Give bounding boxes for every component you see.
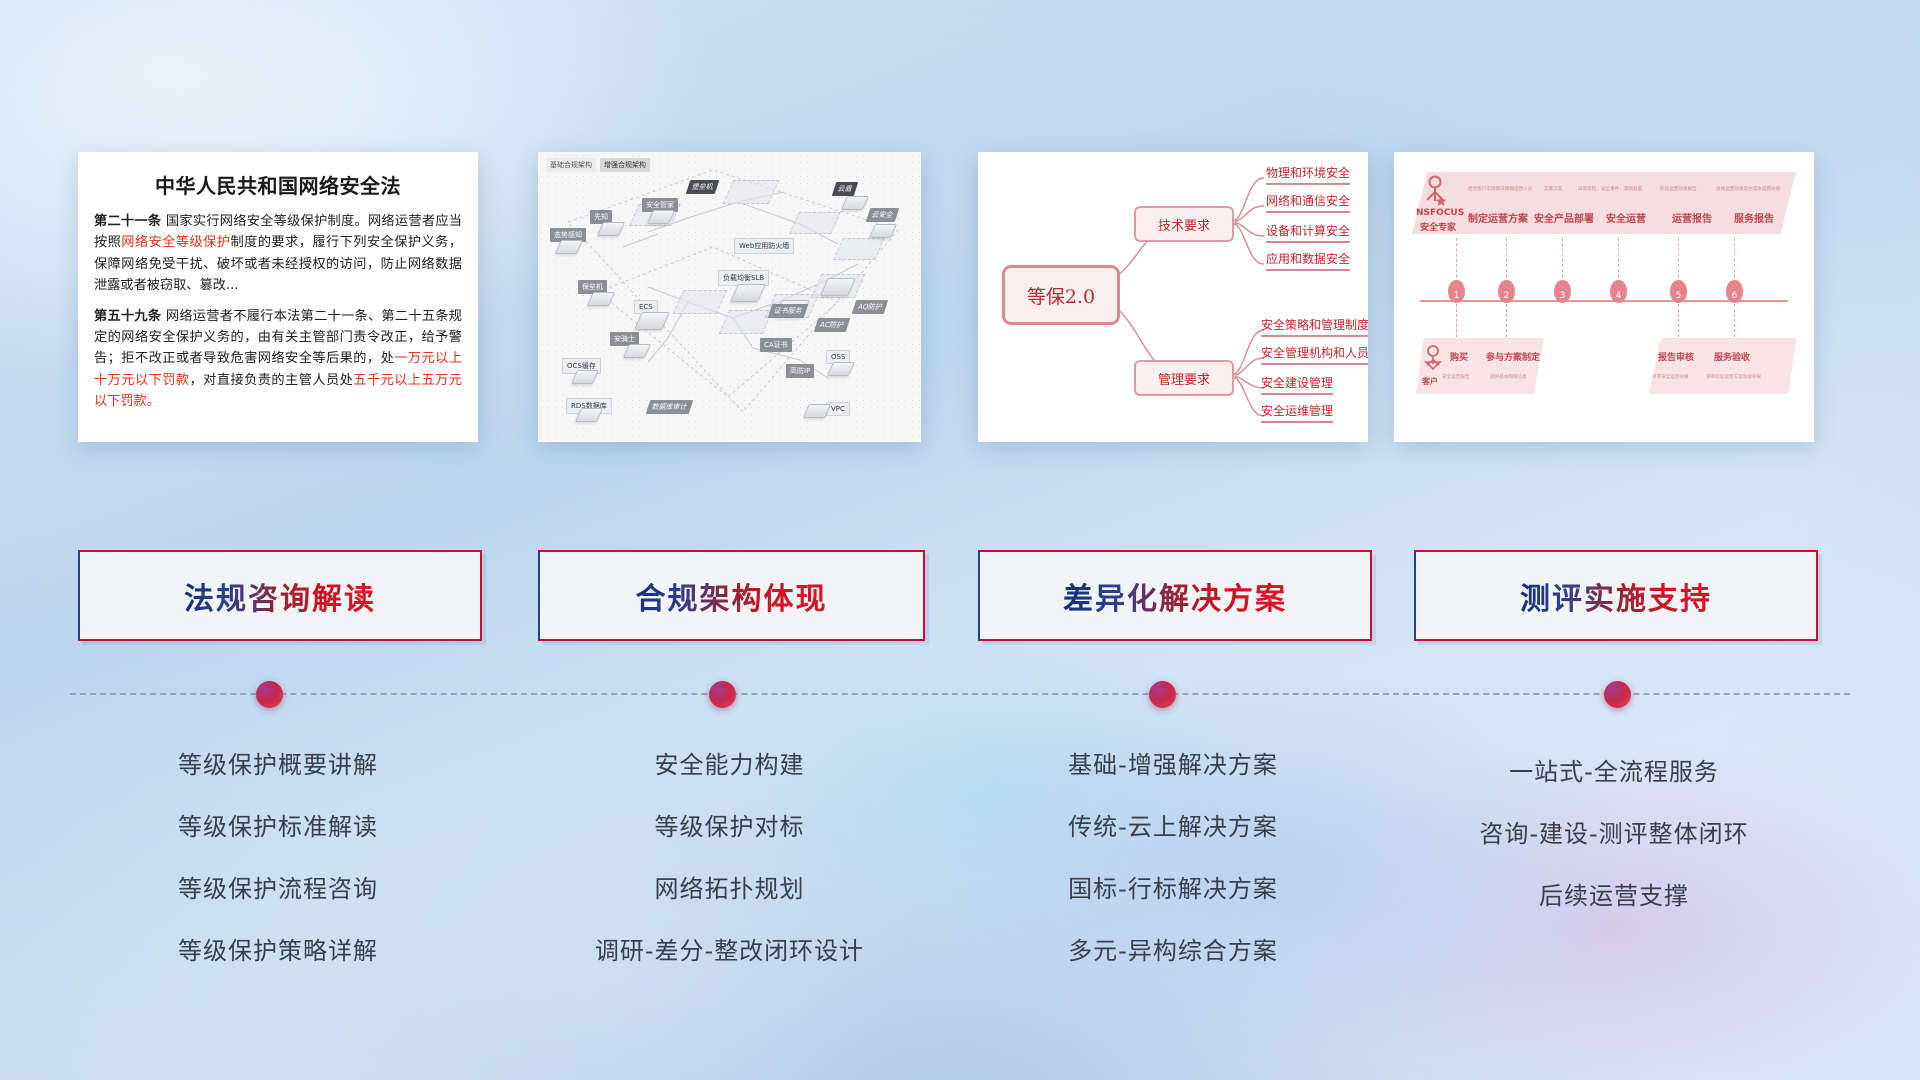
- bottom-step-3-label: 报告审核: [1658, 350, 1694, 363]
- feature-column-2: 安全能力构建 等级保护对标 网络拓扑规划 调研-差分-整改闭环设计: [538, 745, 921, 993]
- list-item: 后续运营支撑: [1414, 876, 1814, 911]
- list-item: 一站式-全流程服务: [1414, 752, 1814, 787]
- mind-leaf-mgmt-2: 安全管理机构和人员: [1261, 344, 1368, 365]
- title-box-4[interactable]: 测评实施支持: [1414, 550, 1818, 641]
- article-21-highlight: 网络安全等级保护: [121, 235, 230, 250]
- timeline-knob-3[interactable]: [1149, 681, 1176, 708]
- timeline-step-1: 1: [1448, 280, 1465, 303]
- expert-person-icon: [1420, 174, 1450, 208]
- list-item: 等级保护策略详解: [78, 931, 478, 966]
- node-cloud-security: 云安全: [866, 208, 900, 222]
- customer-person-icon: [1422, 344, 1444, 374]
- top-step-3-label: 安全运营: [1606, 210, 1646, 225]
- list-item: 调研-差分-整改闭环设计: [538, 931, 921, 966]
- list-item: 等级保护流程咨询: [78, 869, 478, 904]
- list-item: 多元-异构综合方案: [978, 931, 1368, 966]
- timeline-knob-2[interactable]: [709, 681, 736, 708]
- article-59-label: 第五十九条: [94, 309, 161, 324]
- expert-label-line1: NSFOCUS: [1416, 208, 1460, 218]
- timeline-step-5: 5: [1670, 280, 1687, 303]
- list-item: 等级保护对标: [538, 807, 921, 842]
- top-step-1-label: 制定运营方案: [1468, 210, 1528, 225]
- list-item: 国标-行标解决方案: [978, 869, 1368, 904]
- bottom-step-1-sub: 安全运营报告: [1442, 374, 1470, 380]
- top-step-4-label: 运营报告: [1672, 210, 1712, 225]
- mind-leaf-tech-3: 设备和计算安全: [1266, 222, 1350, 243]
- card-mind-map: 等保2.0 技术要求 管理要求 物理和环境安全 网络和通信安全 设备和计算安全 …: [978, 152, 1368, 442]
- list-item: 传统-云上解决方案: [978, 807, 1368, 842]
- card-nsfocus-timeline: NSFOCUS 安全专家 结合客户实际情况明确运营人员 制定运营方案 实施方案 …: [1394, 152, 1814, 442]
- customer-label: 客户: [1422, 376, 1438, 387]
- timeline-rail: [70, 693, 1850, 695]
- bottom-step-2-label: 参与方案制定: [1486, 350, 1540, 363]
- node-yundun: 云盾: [832, 182, 859, 196]
- timeline-step-4: 4: [1610, 280, 1627, 303]
- title-label-4: 测评实施支持: [1520, 574, 1712, 618]
- bottom-step-4-label: 服务验收: [1714, 350, 1750, 363]
- mind-leaf-tech-4: 应用和数据安全: [1266, 250, 1350, 271]
- arch-tabs: 基础合规架构 增强合规架构: [546, 158, 650, 172]
- top-step-1-sub: 结合客户实际情况明确运营人员: [1468, 186, 1532, 192]
- mind-leaf-mgmt-4: 安全运维管理: [1261, 402, 1333, 423]
- timeline-bottom-band-right: [1649, 338, 1797, 394]
- top-step-2-label: 安全产品部署: [1534, 210, 1594, 225]
- article-21-label: 第二十一条: [94, 214, 161, 229]
- bottom-step-1-label: 购买: [1450, 350, 1468, 363]
- law-title: 中华人民共和国网络安全法: [94, 170, 462, 199]
- bottom-step-3-sub: 评审安全运营效果: [1652, 374, 1689, 380]
- title-box-3[interactable]: 差异化解决方案: [978, 550, 1372, 641]
- node-aq-protect: AQ防护: [852, 300, 889, 314]
- title-label-3: 差异化解决方案: [1063, 574, 1287, 618]
- node-anti-ddos-ip: 高防IP: [786, 364, 814, 378]
- feature-column-3: 基础-增强解决方案 传统-云上解决方案 国标-行标解决方案 多元-异构综合方案: [978, 745, 1368, 993]
- node-bastion-top: 堡垒机: [686, 180, 720, 194]
- list-item: 等级保护标准解读: [78, 807, 478, 842]
- list-item: 等级保护概要讲解: [78, 745, 478, 780]
- bottom-step-4-sub: 评审验证运营方案验收效果: [1706, 374, 1761, 380]
- card-architecture-diagram: 基础合规架构 增强合规架构: [538, 152, 921, 442]
- article-59-text-2: ，对直接负责的主管人员处: [190, 373, 354, 388]
- top-step-3-sub: 日常巡检、安全事件、漏洞处置: [1578, 186, 1642, 192]
- mind-branch-technical: 技术要求: [1134, 206, 1234, 242]
- expert-label-line2: 安全专家: [1416, 220, 1460, 233]
- timeline-step-3: 3: [1554, 280, 1571, 303]
- tab-basic-architecture[interactable]: 基础合规架构: [546, 158, 596, 172]
- mind-root-node: 等保2.0: [1002, 265, 1120, 325]
- title-label-1: 法规咨询解读: [184, 574, 376, 618]
- law-article-21: 第二十一条 国家实行网络安全等级保护制度。网络运营者应当按照网络安全等级保护制度…: [94, 211, 462, 297]
- top-step-2-sub: 实施方案: [1544, 186, 1562, 192]
- mind-leaf-tech-2: 网络和通信安全: [1266, 192, 1350, 213]
- timeline-knob-4[interactable]: [1604, 681, 1631, 708]
- law-article-59: 第五十九条 网络运营者不履行本法第二十一条、第二十五条规定的网络安全保护义务的，…: [94, 306, 462, 413]
- feature-column-1: 等级保护概要讲解 等级保护标准解读 等级保护流程咨询 等级保护策略详解: [78, 745, 478, 993]
- list-item: 基础-增强解决方案: [978, 745, 1368, 780]
- timeline-step-6: 6: [1726, 280, 1743, 303]
- tab-enhanced-architecture[interactable]: 增强合规架构: [600, 158, 650, 172]
- mind-leaf-tech-1: 物理和环境安全: [1266, 164, 1350, 185]
- list-item: 咨询-建设-测评整体闭环: [1414, 814, 1814, 849]
- top-step-5-sub: 总体运营效果及达成本运营效果: [1716, 186, 1780, 192]
- title-box-1[interactable]: 法规咨询解读: [78, 550, 482, 641]
- slide-stage: 中华人民共和国网络安全法 第二十一条 国家实行网络安全等级保护制度。网络运营者应…: [0, 0, 1920, 1080]
- mind-leaf-mgmt-1: 安全策略和管理制度: [1261, 316, 1368, 337]
- mind-branch-management: 管理要求: [1134, 360, 1234, 396]
- timeline-knob-1[interactable]: [256, 681, 283, 708]
- timeline-step-2: 2: [1498, 280, 1515, 303]
- mind-leaf-mgmt-3: 安全建设管理: [1261, 374, 1333, 395]
- node-ac-protect: AC防护: [814, 318, 850, 332]
- top-step-4-sub: 阶段运营效果报告: [1660, 186, 1697, 192]
- list-item: 安全能力构建: [538, 745, 921, 780]
- node-cert-service: 证书服务: [768, 304, 809, 318]
- node-db-audit: 数据库审计: [646, 400, 694, 414]
- node-web-waf: Web应用防火墙: [734, 238, 794, 254]
- list-item: 网络拓扑规划: [538, 869, 921, 904]
- title-box-2[interactable]: 合规架构体现: [538, 550, 925, 641]
- bottom-step-2-sub: 提供基本网络信息: [1490, 374, 1527, 380]
- node-ca-certificate: CA证书: [760, 338, 792, 352]
- feature-column-4: 一站式-全流程服务 咨询-建设-测评整体闭环 后续运营支撑: [1414, 752, 1814, 938]
- title-label-2: 合规架构体现: [636, 574, 828, 618]
- top-step-5-label: 服务报告: [1734, 210, 1774, 225]
- card-law-text: 中华人民共和国网络安全法 第二十一条 国家实行网络安全等级保护制度。网络运营者应…: [78, 152, 478, 442]
